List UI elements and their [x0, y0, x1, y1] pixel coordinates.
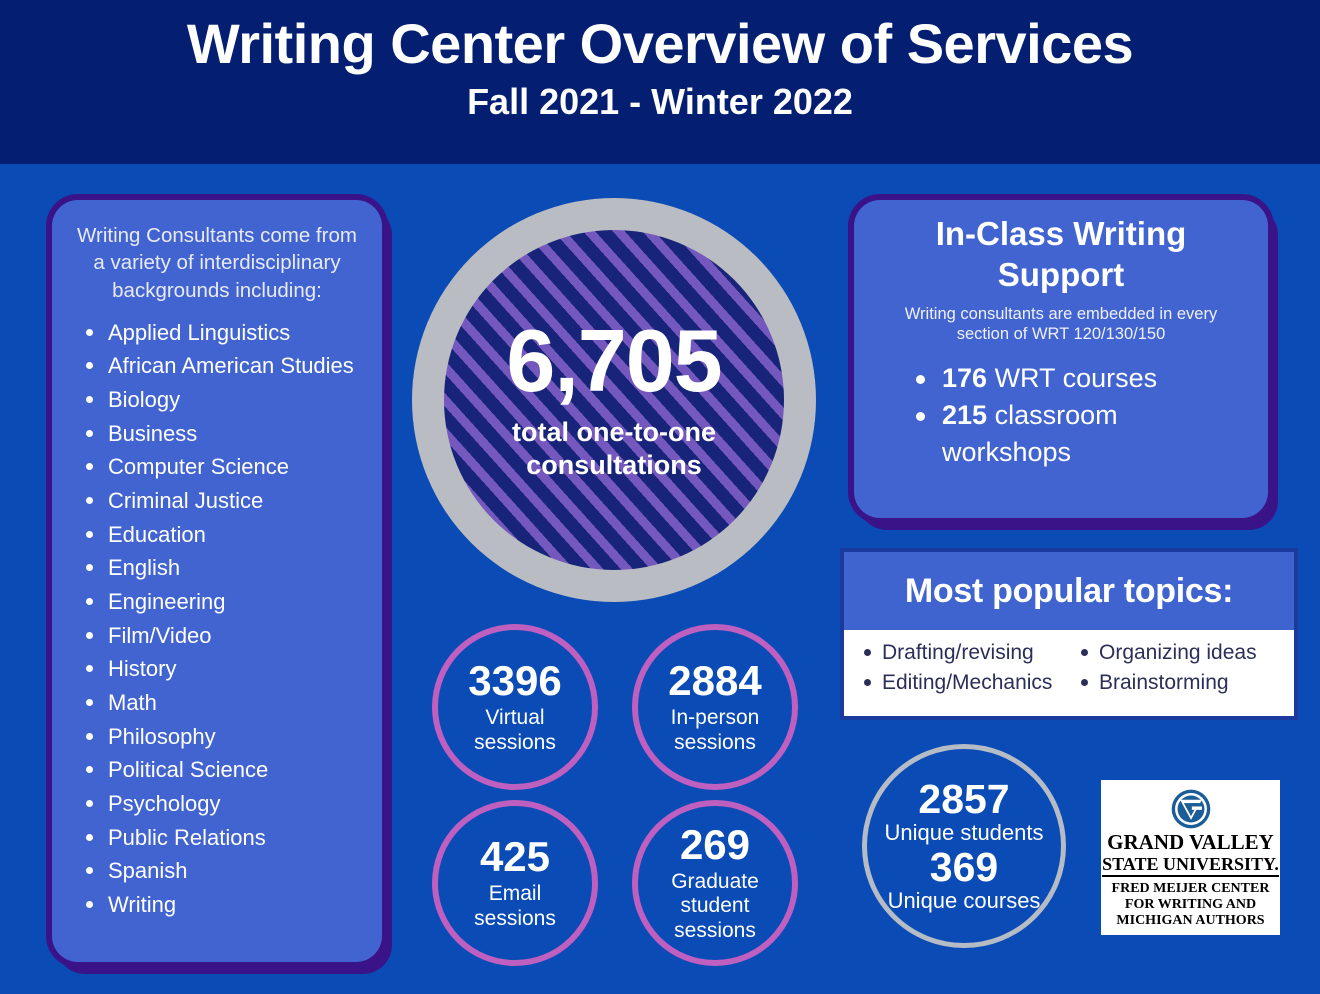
stat-number: 2884: [668, 659, 761, 703]
topics-column-left: Drafting/revising Editing/Mechanics: [856, 638, 1073, 698]
page-subtitle: Fall 2021 - Winter 2022: [0, 80, 1320, 123]
list-item: Criminal Justice: [80, 484, 368, 518]
list-item: English: [80, 551, 368, 585]
gvsu-mark-icon: [1170, 788, 1212, 830]
topics-column-right: Organizing ideas Brainstorming: [1073, 638, 1290, 698]
list-item: Biology: [80, 383, 368, 417]
caption-line-2: consultations: [512, 449, 716, 482]
stat-number: 425: [480, 835, 550, 879]
in-class-text: WRT courses: [987, 363, 1157, 393]
consultant-backgrounds-card: Writing Consultants come from a variety …: [52, 200, 382, 962]
page-header: Writing Center Overview of Services Fall…: [0, 0, 1320, 164]
list-item: Business: [80, 417, 368, 451]
list-item: Applied Linguistics: [80, 316, 368, 350]
in-class-writing-support-card: In-Class Writing Support Writing consult…: [854, 200, 1268, 518]
list-item: Education: [80, 518, 368, 552]
most-popular-topics-panel: Most popular topics: Drafting/revising E…: [844, 552, 1294, 716]
total-consultations-number: 6,705: [506, 318, 721, 404]
list-item: Math: [80, 686, 368, 720]
list-item: Computer Science: [80, 450, 368, 484]
in-class-title-line-2: Support: [882, 255, 1240, 296]
in-class-subtitle-line-2: section of WRT 120/130/150: [876, 324, 1246, 344]
unique-students-number: 2857: [918, 778, 1009, 821]
list-item: African American Studies: [80, 349, 368, 383]
stat-label: In-person sessions: [671, 706, 760, 755]
stat-number: 269: [680, 823, 750, 867]
stat-label-line-2: student: [671, 894, 759, 918]
stat-circle-inperson: 2884 In-person sessions: [632, 624, 798, 790]
gvsu-logo: GRAND VALLEY STATE UNIVERSITY. FRED MEIJ…: [1101, 780, 1280, 935]
backgrounds-list: Applied Linguistics African American Stu…: [66, 316, 368, 922]
stat-label-line-1: Virtual: [474, 706, 556, 730]
unique-courses-label: Unique courses: [888, 889, 1041, 914]
stat-label-line-3: sessions: [671, 919, 759, 943]
logo-university-line-2: STATE UNIVERSITY.: [1102, 855, 1279, 877]
stat-label: Virtual sessions: [474, 706, 556, 755]
list-item: Spanish: [80, 854, 368, 888]
list-item: Editing/Mechanics: [856, 668, 1073, 698]
in-class-value: 176: [942, 363, 987, 393]
topics-header: Most popular topics:: [844, 552, 1294, 630]
list-item: 176 WRT courses: [912, 360, 1250, 397]
list-item: Political Science: [80, 753, 368, 787]
unique-courses-number: 369: [930, 846, 998, 889]
stat-label: Graduate student sessions: [671, 870, 759, 943]
stat-label-line-1: Email: [474, 882, 556, 906]
list-item: Organizing ideas: [1073, 638, 1290, 668]
stat-label-line-2: sessions: [671, 731, 760, 755]
stat-circle-graduate: 269 Graduate student sessions: [632, 800, 798, 966]
list-item: Brainstorming: [1073, 668, 1290, 698]
list-item: Public Relations: [80, 821, 368, 855]
list-item: Writing: [80, 888, 368, 922]
in-class-subtitle: Writing consultants are embedded in ever…: [876, 304, 1246, 344]
stat-label-line-1: In-person: [671, 706, 760, 730]
in-class-subtitle-line-1: Writing consultants are embedded in ever…: [876, 304, 1246, 324]
logo-center-line-2: FOR WRITING AND: [1112, 897, 1270, 913]
in-class-value: 215: [942, 400, 987, 430]
stat-label-line-2: sessions: [474, 731, 556, 755]
in-class-title: In-Class Writing Support: [882, 214, 1240, 296]
unique-students-courses-circle: 2857 Unique students 369 Unique courses: [862, 744, 1066, 948]
logo-center-name: FRED MEIJER CENTER FOR WRITING AND MICHI…: [1112, 881, 1270, 929]
stat-circle-virtual: 3396 Virtual sessions: [432, 624, 598, 790]
list-item: Engineering: [80, 585, 368, 619]
list-item: Film/Video: [80, 619, 368, 653]
stat-number: 3396: [468, 659, 561, 703]
stat-label-line-2: sessions: [474, 907, 556, 931]
list-item: History: [80, 652, 368, 686]
logo-center-line-3: MICHIGAN AUTHORS: [1112, 913, 1270, 929]
page-title: Writing Center Overview of Services: [0, 12, 1320, 76]
backgrounds-intro-text: Writing Consultants come from a variety …: [72, 222, 362, 304]
total-consultations-circle: 6,705 total one-to-one consultations: [412, 198, 816, 602]
unique-students-label: Unique students: [885, 821, 1044, 846]
in-class-stats-list: 176 WRT courses 215 classroom workshops: [872, 360, 1250, 471]
logo-center-line-1: FRED MEIJER CENTER: [1112, 881, 1270, 897]
list-item: Psychology: [80, 787, 368, 821]
caption-line-1: total one-to-one: [512, 416, 716, 449]
stat-label: Email sessions: [474, 882, 556, 931]
list-item: 215 classroom workshops: [912, 397, 1250, 471]
logo-university-line-1: GRAND VALLEY: [1107, 832, 1274, 853]
list-item: Drafting/revising: [856, 638, 1073, 668]
stat-circle-email: 425 Email sessions: [432, 800, 598, 966]
stat-label-line-1: Graduate: [671, 870, 759, 894]
total-consultations-caption: total one-to-one consultations: [512, 416, 716, 482]
in-class-title-line-1: In-Class Writing: [882, 214, 1240, 255]
topics-body: Drafting/revising Editing/Mechanics Orga…: [844, 630, 1294, 698]
list-item: Philosophy: [80, 720, 368, 754]
total-consultations-inner: 6,705 total one-to-one consultations: [444, 230, 784, 570]
topics-header-label: Most popular topics:: [905, 572, 1233, 611]
